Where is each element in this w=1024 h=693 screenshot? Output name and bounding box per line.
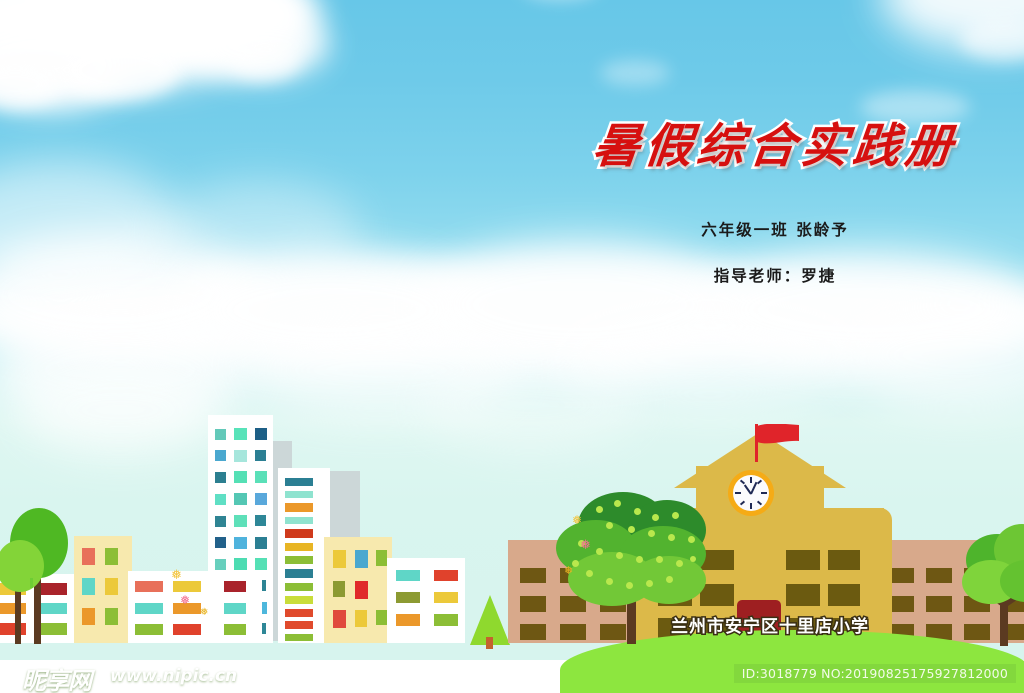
butterfly-pink-2: ❅ [580,538,591,551]
image-id-stamp: ID:3018779 NO:20190825175927812000 [734,664,1016,683]
building-white-low-right [387,558,465,643]
building-tower-b [278,468,330,643]
building-cream-mid [324,537,392,643]
page-title: 暑假综合实践册 [557,120,993,174]
butterfly-yellow-3: ❅ [572,514,582,526]
building-cream-left [74,536,132,643]
school-name: 兰州市安宁区十里店小学 [600,612,940,637]
teacher-line: 指导老师：罗捷 [560,264,990,286]
building-white-wide-right-windows [220,571,262,643]
title-block: 暑假综合实践册 六年级一班 张龄予 指导老师：罗捷 [560,120,990,286]
flag-icon [757,424,799,450]
watermark-url: www.nipic.cn [110,666,237,686]
grass-tuft [30,578,33,588]
butterfly-pink-1: ❅ [180,594,190,606]
cover-illustration: 暑假综合实践册 六年级一班 张龄予 指导老师：罗捷 [0,0,1024,693]
watermark-logo: 昵享网 [22,661,91,693]
butterfly-yellow-4: ❅ [564,566,573,577]
school-clock [728,470,774,516]
butterfly-yellow-1: ❅ [171,568,182,581]
butterfly-yellow-2: ❅ [200,608,208,618]
school-flag [757,424,799,455]
student-line: 六年级一班 张龄予 [560,218,990,240]
